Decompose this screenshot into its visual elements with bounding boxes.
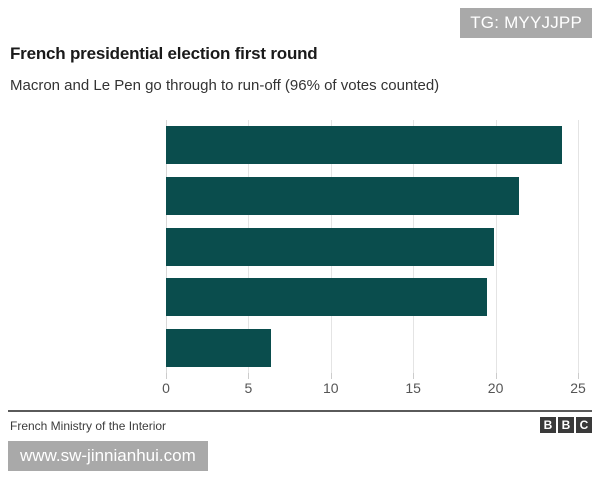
bar bbox=[166, 329, 271, 367]
x-tick-label-0: 0 bbox=[162, 380, 170, 396]
x-tick-25 bbox=[578, 373, 579, 379]
bbc-logo: B B C bbox=[540, 417, 592, 433]
top-watermark-text: TG: MYYJJPP bbox=[470, 13, 582, 32]
bar-row: Emmanuel Macron bbox=[166, 126, 578, 164]
bottom-watermark-badge: www.sw-jinnianhui.com bbox=[8, 441, 208, 471]
x-tick-label-15: 15 bbox=[405, 380, 421, 396]
bar bbox=[166, 228, 494, 266]
bbc-logo-b2: B bbox=[558, 417, 574, 433]
x-tick-0 bbox=[166, 373, 167, 379]
bbc-logo-c: C bbox=[576, 417, 592, 433]
bar-row: Jean-Luc Mélenchon bbox=[166, 278, 578, 316]
chart-title: French presidential election first round bbox=[10, 44, 318, 64]
bar-row: François Fillon bbox=[166, 228, 578, 266]
source-label: French Ministry of the Interior bbox=[10, 419, 166, 433]
top-watermark-badge: TG: MYYJJPP bbox=[460, 8, 592, 38]
plot-area: 0510152025Emmanuel MacronMarine Le PenFr… bbox=[166, 120, 578, 373]
bbc-logo-b1: B bbox=[540, 417, 556, 433]
bar-row: Marine Le Pen bbox=[166, 177, 578, 215]
x-tick-20 bbox=[496, 373, 497, 379]
bar-row: Benoît Hamon bbox=[166, 329, 578, 367]
footer-divider bbox=[8, 410, 592, 412]
bar bbox=[166, 126, 562, 164]
bar bbox=[166, 278, 487, 316]
gridline-25 bbox=[578, 120, 579, 373]
chart-subtitle: Macron and Le Pen go through to run-off … bbox=[10, 77, 439, 94]
bar-chart: 0510152025Emmanuel MacronMarine Le PenFr… bbox=[0, 112, 600, 397]
x-tick-label-5: 5 bbox=[244, 380, 252, 396]
x-tick-label-10: 10 bbox=[323, 380, 339, 396]
x-tick-5 bbox=[248, 373, 249, 379]
bottom-watermark-text: www.sw-jinnianhui.com bbox=[20, 446, 196, 465]
x-tick-15 bbox=[413, 373, 414, 379]
x-tick-label-20: 20 bbox=[488, 380, 504, 396]
bar bbox=[166, 177, 519, 215]
x-tick-10 bbox=[331, 373, 332, 379]
x-tick-label-25: 25 bbox=[570, 380, 586, 396]
